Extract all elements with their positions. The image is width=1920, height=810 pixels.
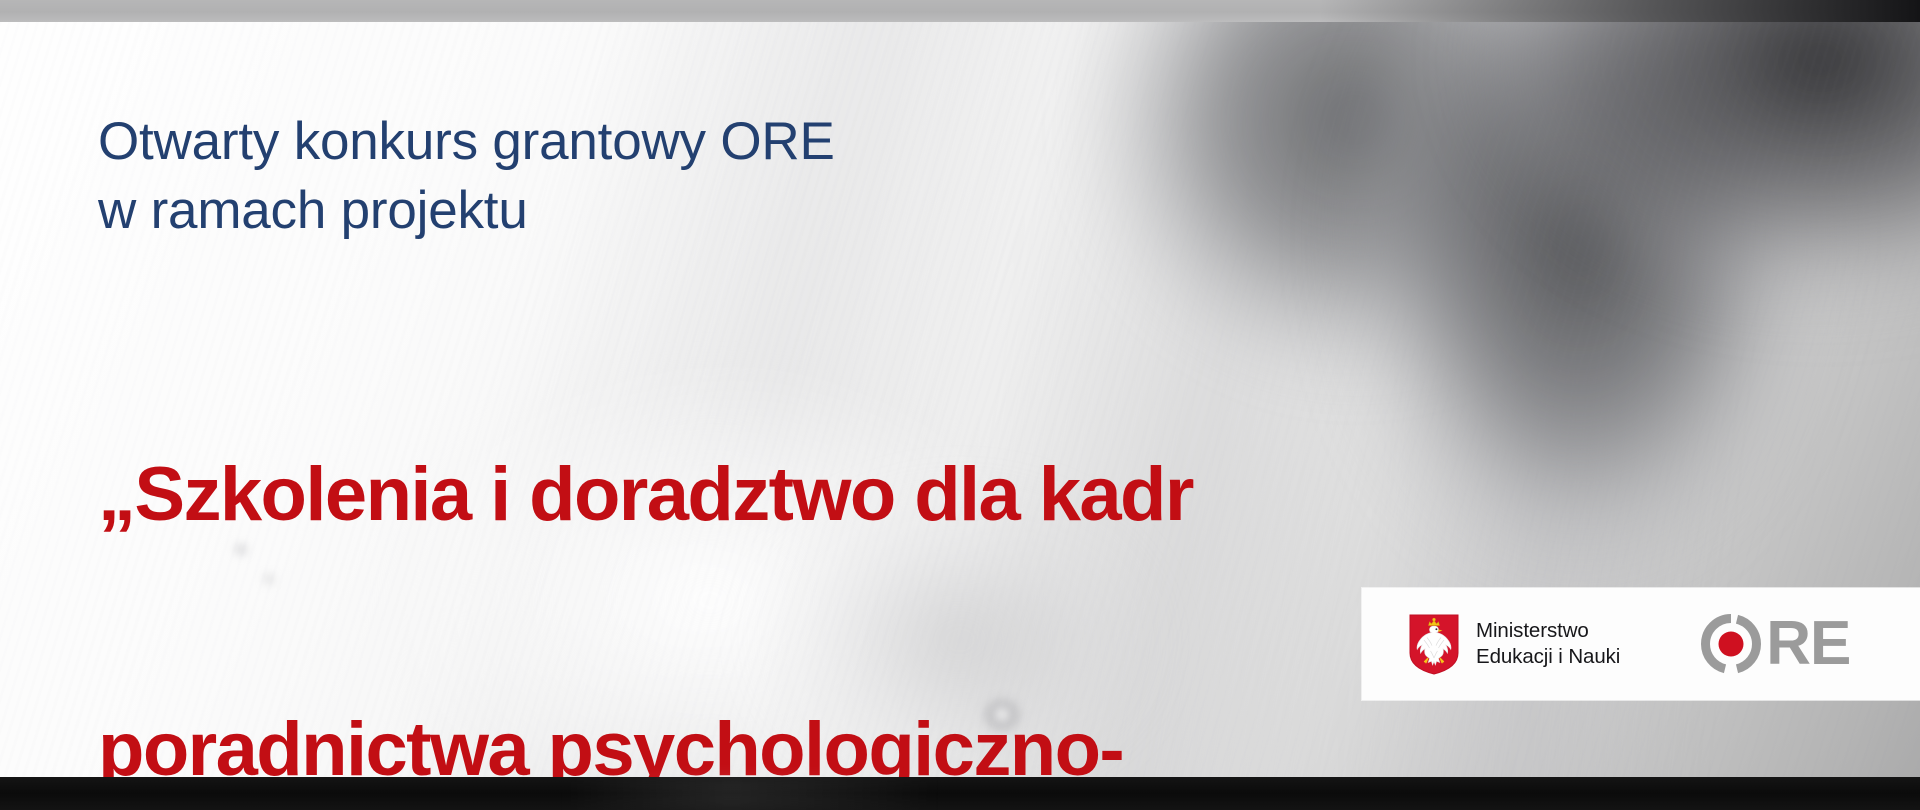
title-line-1: „Szkolenia i doradztwo dla kadr — [98, 452, 1193, 537]
ore-logo: RE — [1698, 611, 1850, 677]
polish-coat-of-arms-icon — [1408, 613, 1460, 675]
top-letterbox-strip — [0, 0, 1920, 22]
project-title: „Szkolenia i doradztwo dla kadr poradnic… — [98, 282, 1193, 810]
lede-line-1: Otwarty konkurs grantowy ORE — [98, 108, 1193, 177]
headline-block: Otwarty konkurs grantowy ORE w ramach pr… — [98, 108, 1193, 810]
ministry-logo-label: MinisterstwoEdukacji i Nauki — [1476, 618, 1620, 670]
ministry-label-line-1: Ministerstwo — [1476, 619, 1589, 642]
ore-wordmark: RE — [1766, 613, 1850, 675]
ministry-label-line-2: Edukacji i Nauki — [1476, 645, 1620, 668]
promo-banner: Otwarty konkurs grantowy ORE w ramach pr… — [0, 0, 1920, 810]
lede-line-2: w ramach projektu — [98, 177, 1193, 246]
top-strip-dark-fade — [1320, 0, 1920, 22]
ore-ring-icon — [1698, 611, 1764, 677]
ministry-logo: MinisterstwoEdukacji i Nauki — [1408, 613, 1620, 675]
logo-panel: MinisterstwoEdukacji i Nauki RE — [1362, 588, 1920, 700]
bottom-letterbox-strip — [0, 777, 1920, 810]
bottom-strip-highlight — [560, 777, 940, 810]
